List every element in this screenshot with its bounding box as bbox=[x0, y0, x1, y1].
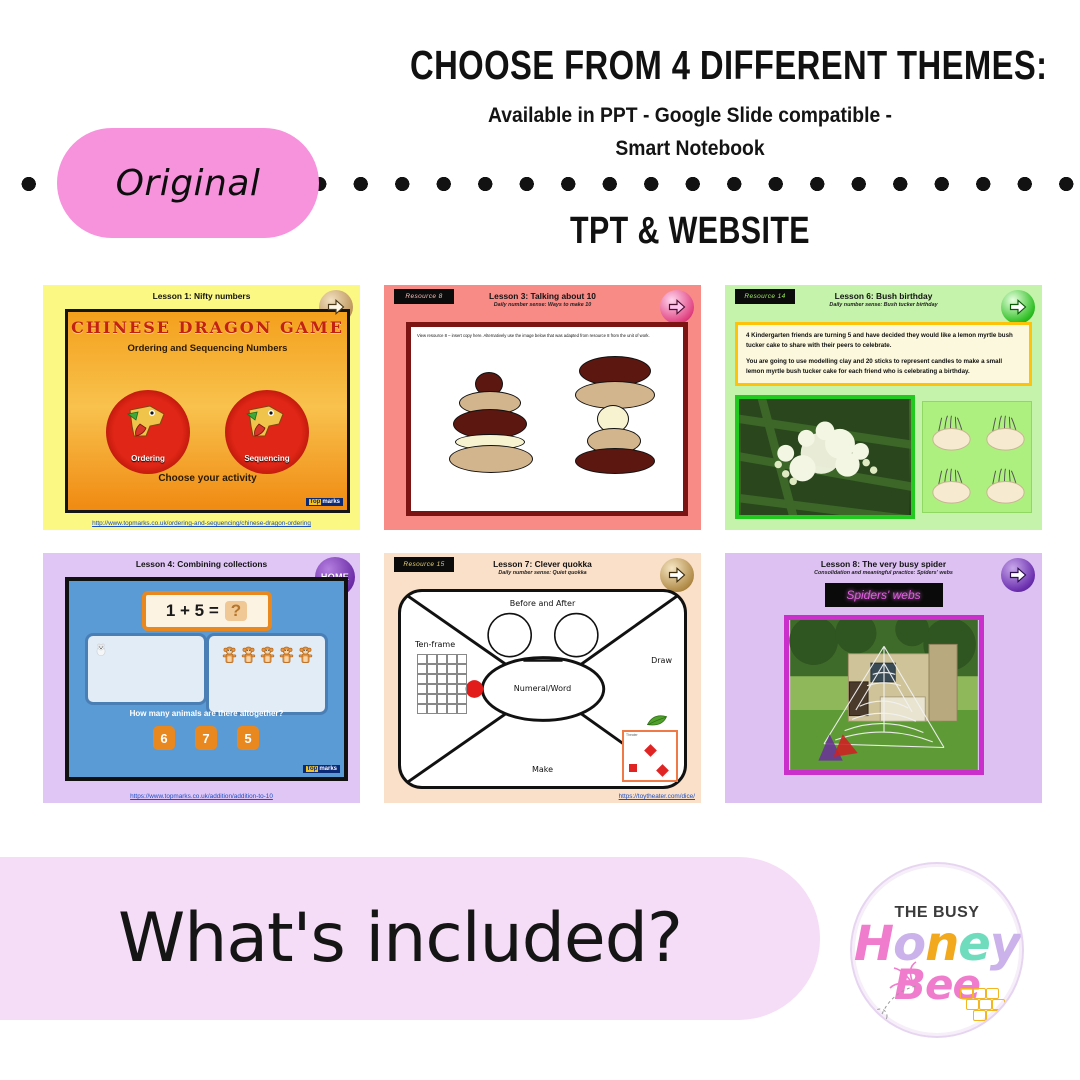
task-paragraph-2: You are going to use modelling clay and … bbox=[746, 357, 1021, 377]
monkey-icon bbox=[278, 646, 295, 665]
slide-lesson-title: Lesson 3: Talking about 10 bbox=[384, 291, 701, 301]
polar-bear-icon bbox=[94, 642, 108, 658]
ten-frame-grid bbox=[417, 654, 467, 714]
topmarks-logo: Top marks bbox=[303, 765, 340, 773]
slide-card-lesson-7[interactable]: Resource 15 Lesson 7: Clever quokka Dail… bbox=[384, 553, 701, 803]
monkey-icon bbox=[259, 646, 276, 665]
ordering-button-label: Ordering bbox=[131, 454, 165, 463]
source-link[interactable]: https://toytheater.com/dice/ bbox=[619, 793, 695, 800]
spiders-webs-banner: Spiders' webs bbox=[825, 583, 943, 607]
slide-lesson-title: Lesson 7: Clever quokka bbox=[384, 559, 701, 569]
arrow-right-icon[interactable] bbox=[1001, 558, 1035, 592]
game-subtitle: Ordering and Sequencing Numbers bbox=[68, 343, 347, 354]
slide-lesson-title: Lesson 1: Nifty numbers bbox=[43, 291, 360, 301]
arrow-right-glyph bbox=[1008, 565, 1028, 585]
dice-widget[interactable]: Theater bbox=[622, 730, 678, 782]
slide-note: View resource 8 – insert copy here. Alte… bbox=[417, 333, 677, 339]
slide-screen: 1 + 5 = ? bbox=[65, 577, 348, 781]
slide-lesson-subtitle: Consolidation and meaningful practice: S… bbox=[725, 570, 1042, 576]
equation-answer-box[interactable]: ? bbox=[225, 601, 247, 621]
sequencing-button[interactable]: Sequencing bbox=[225, 390, 309, 474]
sequencing-button-label: Sequencing bbox=[244, 454, 289, 463]
slide-screen: View resource 8 – insert copy here. Alte… bbox=[406, 322, 688, 516]
slide-screen: CHINESE DRAGON GAME Ordering and Sequenc… bbox=[65, 309, 350, 513]
stone bbox=[449, 445, 533, 473]
slide-card-lesson-8[interactable]: Lesson 8: The very busy spider Consolida… bbox=[725, 553, 1042, 803]
label-make: Make bbox=[532, 765, 553, 774]
arrow-right-glyph bbox=[667, 565, 687, 585]
arrow-right-glyph bbox=[326, 297, 346, 317]
slide-grid: Lesson 1: Nifty numbers CHINESE DRAGON G… bbox=[43, 285, 1043, 826]
slide-lesson-title: Lesson 8: The very busy spider bbox=[725, 559, 1042, 569]
graphic-organiser: Before and After Ten-frame Draw Numeral/… bbox=[398, 589, 687, 789]
flower-photo-graphic bbox=[739, 399, 911, 515]
source-link[interactable]: https://www.topmarks.co.uk/addition/addi… bbox=[43, 793, 360, 800]
label-ten-frame: Ten-frame bbox=[415, 640, 455, 649]
slide-card-lesson-3[interactable]: Resource 8 Lesson 3: Talking about 10 Da… bbox=[384, 285, 701, 530]
activity-prompt: Choose your activity bbox=[68, 473, 347, 484]
subtitle-line-2: Smart Notebook bbox=[368, 133, 1012, 166]
label-draw: Draw bbox=[651, 656, 672, 665]
arrow-right-glyph bbox=[1008, 297, 1028, 317]
slide-lesson-subtitle: Daily number sense: Ways to make 10 bbox=[384, 302, 701, 308]
equation-text: 1 + 5 = bbox=[166, 601, 219, 621]
honeycomb-icon bbox=[960, 988, 1008, 1022]
poster-canvas: CHOOSE FROM 4 DIFFERENT THEMES: Availabl… bbox=[0, 0, 1080, 1080]
monkey-icon bbox=[221, 646, 238, 665]
slide-lesson-title: Lesson 4: Combining collections bbox=[43, 559, 360, 569]
equation-display: 1 + 5 = ? bbox=[142, 591, 272, 631]
task-paragraph-1: 4 Kindergarten friends are turning 5 and… bbox=[746, 331, 1021, 351]
brand-logo: THE BUSY Honey Bee bbox=[850, 862, 1024, 1038]
tpt-website-label: TPT & WEBSITE bbox=[410, 210, 970, 253]
arrow-right-icon[interactable] bbox=[660, 558, 694, 592]
web-photo-graphic bbox=[789, 620, 979, 770]
answer-option-3[interactable]: 5 bbox=[237, 726, 259, 750]
arrow-right-icon[interactable] bbox=[660, 290, 694, 324]
slide-card-lesson-6[interactable]: Resource 14 Lesson 6: Bush birthday Dail… bbox=[725, 285, 1042, 530]
theme-pill-label: Original bbox=[57, 128, 319, 238]
arrow-right-icon[interactable] bbox=[1001, 290, 1035, 324]
topmarks-logo-marks: marks bbox=[319, 766, 337, 772]
subtitle-line-1: Available in PPT - Google Slide compatib… bbox=[368, 100, 1012, 133]
collection-panel-right bbox=[206, 633, 328, 715]
stone bbox=[575, 448, 655, 474]
task-textbox: 4 Kindergarten friends are turning 5 and… bbox=[735, 322, 1032, 386]
spider-web-photo bbox=[784, 615, 984, 775]
topmarks-logo-top: Top bbox=[309, 499, 322, 505]
slide-lesson-subtitle: Daily number sense: Bush tucker birthday bbox=[725, 302, 1042, 308]
slide-row-1: Lesson 1: Nifty numbers CHINESE DRAGON G… bbox=[43, 285, 1043, 530]
slide-lesson-subtitle: Daily number sense: Quiet quokka bbox=[384, 570, 701, 576]
footer-heading: What's included? bbox=[0, 857, 800, 1020]
topmarks-logo: Top marks bbox=[306, 498, 343, 506]
collection-panel-left bbox=[85, 633, 207, 705]
dragon-icon bbox=[120, 402, 176, 444]
ordering-button[interactable]: Ordering bbox=[106, 390, 190, 474]
answer-option-1[interactable]: 6 bbox=[153, 726, 175, 750]
dragon-icon bbox=[239, 402, 295, 444]
monkey-icon bbox=[297, 646, 314, 665]
label-numeral-word: Numeral/Word bbox=[514, 684, 571, 693]
monkey-icon bbox=[240, 646, 257, 665]
question-text: How many animals are there altogether? bbox=[69, 709, 344, 718]
lemon-myrtle-photo bbox=[735, 395, 915, 519]
clay-cakes-panel bbox=[922, 401, 1032, 513]
topmarks-logo-marks: marks bbox=[322, 499, 340, 505]
label-before-after: Before and After bbox=[510, 599, 576, 608]
source-link[interactable]: http://www.topmarks.co.uk/ordering-and-s… bbox=[43, 520, 360, 527]
slide-lesson-title: Lesson 6: Bush birthday bbox=[725, 291, 1042, 301]
page-subtitle: Available in PPT - Google Slide compatib… bbox=[368, 100, 1012, 165]
answer-option-2[interactable]: 7 bbox=[195, 726, 217, 750]
page-title: CHOOSE FROM 4 DIFFERENT THEMES: bbox=[410, 42, 970, 89]
slide-row-2: Lesson 4: Combining collections HOME 1 +… bbox=[43, 553, 1043, 803]
leaf-icon bbox=[646, 714, 668, 728]
slide-card-lesson-1[interactable]: Lesson 1: Nifty numbers CHINESE DRAGON G… bbox=[43, 285, 360, 530]
slide-card-lesson-4[interactable]: Lesson 4: Combining collections HOME 1 +… bbox=[43, 553, 360, 803]
game-title: CHINESE DRAGON GAME bbox=[68, 318, 347, 337]
dice-icons bbox=[624, 732, 676, 780]
topmarks-logo-top: Top bbox=[306, 766, 319, 772]
arrow-right-glyph bbox=[667, 297, 687, 317]
cakes-graphic bbox=[923, 402, 1031, 512]
